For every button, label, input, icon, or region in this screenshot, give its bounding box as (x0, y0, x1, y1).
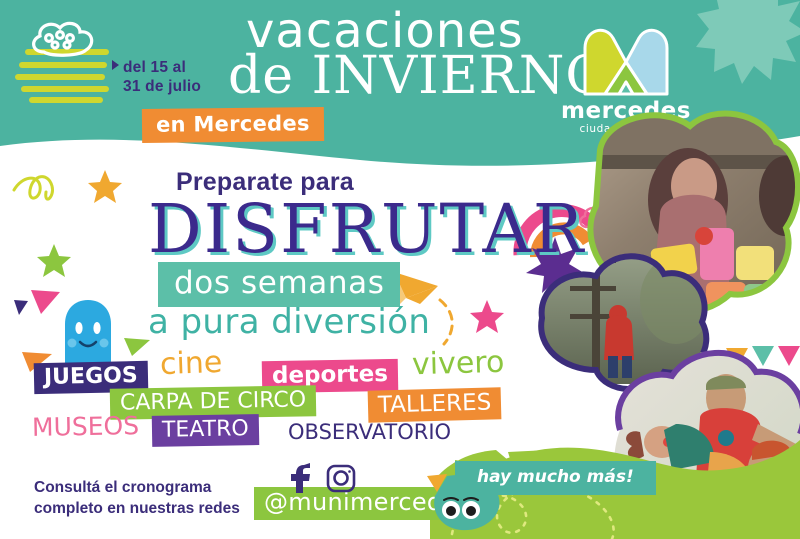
footer-cta-line-2: completo en nuestras redes (34, 500, 240, 517)
footer-cta: Consultá el cronograma completo en nuest… (34, 478, 240, 520)
footer-cta-line-1: Consultá el cronograma (34, 479, 211, 496)
facebook-icon (291, 463, 310, 493)
photo-collage (0, 0, 800, 539)
callout-hay-mucho-mas: hay mucho más! (455, 461, 656, 495)
poster-root: del 15 al 31 de julio vacaciones de INVI… (0, 0, 800, 539)
social-icons[interactable] (288, 463, 360, 493)
instagram-icon (328, 466, 354, 491)
